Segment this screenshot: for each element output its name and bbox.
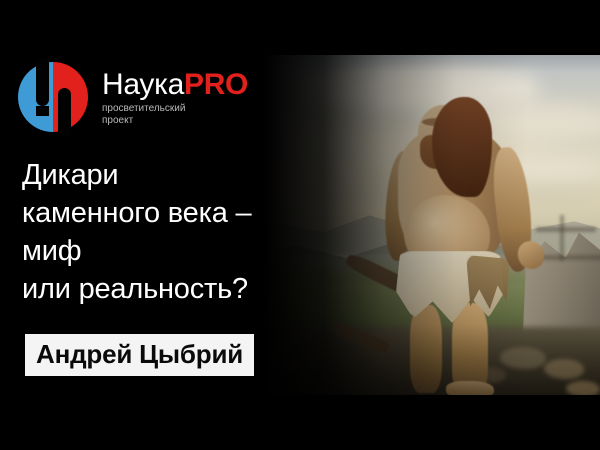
brand-wordmark: НаукаPRO просветительский проект — [102, 58, 248, 126]
brand-tagline-line2: проект — [102, 115, 248, 127]
headline-line-3: миф — [22, 232, 251, 270]
logo-letter-cutout — [36, 58, 49, 106]
brand-tagline: просветительский проект — [102, 103, 248, 126]
headline-line-2: каменного века – — [22, 194, 251, 232]
overlay-content: НаукаPRO просветительский проект Дикари … — [0, 0, 600, 450]
brand-name-red: PRO — [184, 68, 248, 101]
headline-line-4: или реальность? — [22, 270, 251, 308]
brand-logo: НаукаPRO просветительский проект — [14, 58, 248, 136]
logo-letter-cutout — [36, 106, 49, 116]
brand-name-white: Наука — [102, 68, 184, 101]
video-thumbnail: НаукаPRO просветительский проект Дикари … — [0, 0, 600, 450]
headline-title: Дикари каменного века – миф или реальнос… — [22, 156, 251, 308]
naukapro-circle-logo-icon — [14, 58, 92, 136]
speaker-name-banner: Андрей Цыбрий — [25, 334, 254, 376]
logo-letter-cutout — [58, 88, 71, 136]
brand-tagline-line1: просветительский — [102, 103, 248, 115]
headline-line-1: Дикари — [22, 156, 251, 194]
brand-name: НаукаPRO — [102, 70, 248, 100]
